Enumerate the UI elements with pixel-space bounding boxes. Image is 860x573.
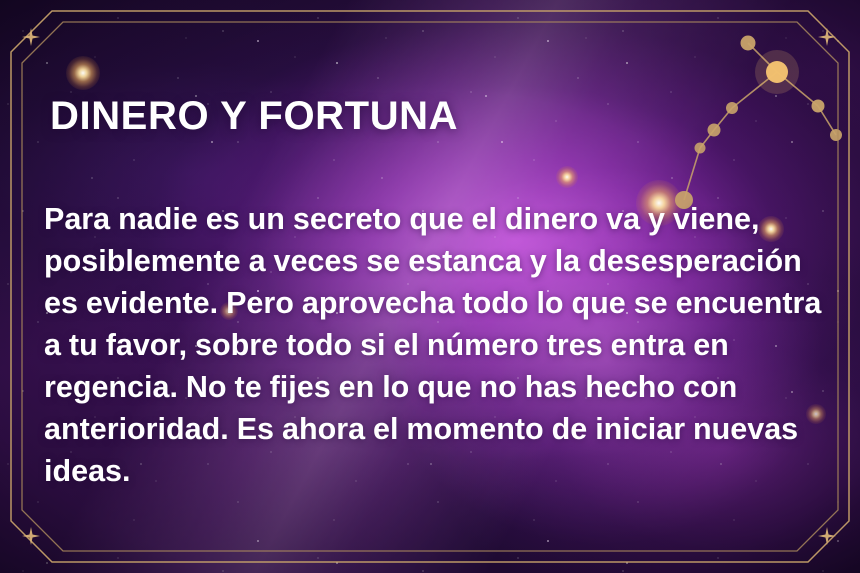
card-content: DINERO Y FORTUNA Para nadie es un secret…: [44, 0, 834, 573]
sparkle-icon: [22, 28, 40, 46]
horoscope-card: DINERO Y FORTUNA Para nadie es un secret…: [0, 0, 860, 573]
page-title: DINERO Y FORTUNA: [50, 94, 458, 139]
body-paragraph: Para nadie es un secreto que el dinero v…: [44, 198, 828, 492]
sparkle-icon: [22, 527, 40, 545]
